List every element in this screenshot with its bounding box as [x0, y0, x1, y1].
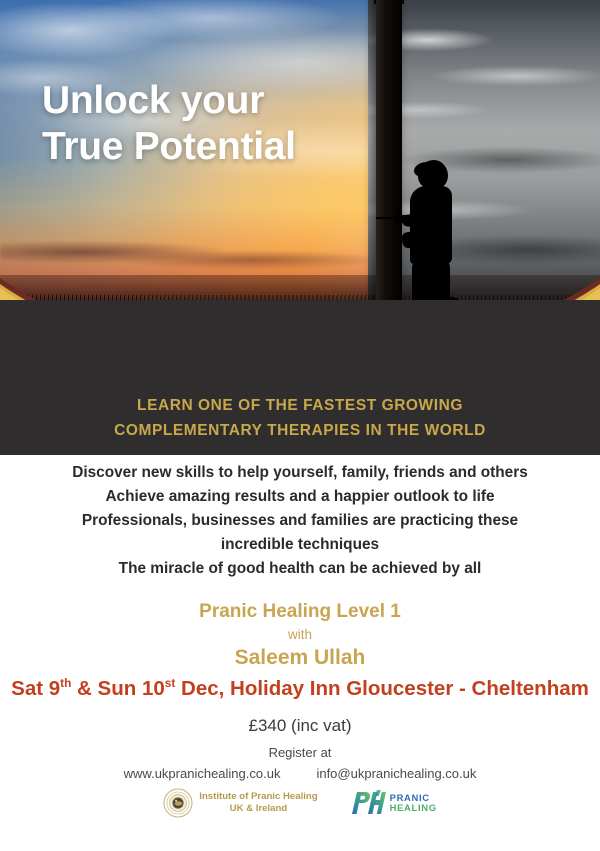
course-level: Pranic Healing Level 1 [0, 601, 600, 624]
headline-line-1: Unlock your [42, 79, 264, 122]
horizon-cloud-band [0, 238, 420, 280]
hero-image [0, 0, 600, 345]
gold-subheading-line-1: LEARN ONE OF THE FASTEST GROWING [0, 393, 600, 418]
ph-wordmark: PRANIC HEALING [390, 793, 437, 813]
price: £340 (inc vat) [0, 716, 600, 736]
body-line: Achieve amazing results and a happier ou… [0, 485, 600, 509]
date-day2-ordinal: st [165, 676, 176, 690]
date-venue-rest: Dec, Holiday Inn Gloucester - Cheltenham [175, 677, 589, 700]
course-block: Pranic Healing Level 1 with Saleem Ullah [0, 601, 600, 672]
institute-logo-text: Institute of Pranic Healing UK & Ireland [199, 791, 317, 814]
body-line: The miracle of good health can be achiev… [0, 557, 600, 581]
headline-line-2: True Potential [42, 124, 296, 170]
page-title: Unlock your True Potential [42, 78, 296, 169]
date-separator: & Sun 10 [71, 677, 164, 700]
institute-logo-line-1: Institute of Pranic Healing [199, 791, 317, 802]
gold-subheading-line-2: COMPLEMENTARY THERAPIES IN THE WORLD [0, 418, 600, 443]
institute-logo: Institute of Pranic Healing UK & Ireland [163, 788, 317, 818]
ph-monogram-icon [348, 790, 386, 816]
date-day1-ordinal: th [60, 676, 71, 690]
poster: Unlock your True Potential LEARN ONE OF … [0, 0, 600, 851]
gold-subheading: LEARN ONE OF THE FASTEST GROWING COMPLEM… [0, 393, 600, 443]
email-link[interactable]: info@ukpranichealing.co.uk [316, 766, 476, 781]
pranic-healing-logo: PRANIC HEALING [348, 790, 437, 816]
body-copy: Discover new skills to help yourself, fa… [0, 461, 600, 581]
key-icon [376, 217, 398, 219]
logo-row: Institute of Pranic Healing UK & Ireland [0, 788, 600, 818]
website-link[interactable]: www.ukpranichealing.co.uk [124, 766, 281, 781]
register-label: Register at [0, 745, 600, 760]
body-line: Discover new skills to help yourself, fa… [0, 461, 600, 485]
contact-row: www.ukpranichealing.co.uk info@ukpranich… [0, 766, 600, 781]
ph-word-healing: HEALING [390, 803, 437, 813]
figure-forearm [394, 215, 412, 224]
monolith-door [376, 0, 402, 324]
course-presenter: Saleem Ullah [0, 645, 600, 671]
date-day1: Sat 9 [11, 677, 60, 700]
course-with-label: with [0, 624, 600, 646]
institute-logo-line-2: UK & Ireland [199, 803, 317, 815]
date-venue-line: Sat 9th & Sun 10st Dec, Holiday Inn Glou… [0, 676, 600, 701]
body-line: Professionals, businesses and families a… [0, 509, 600, 533]
body-line: incredible techniques [0, 533, 600, 557]
institute-globe-emblem-icon [163, 788, 193, 818]
